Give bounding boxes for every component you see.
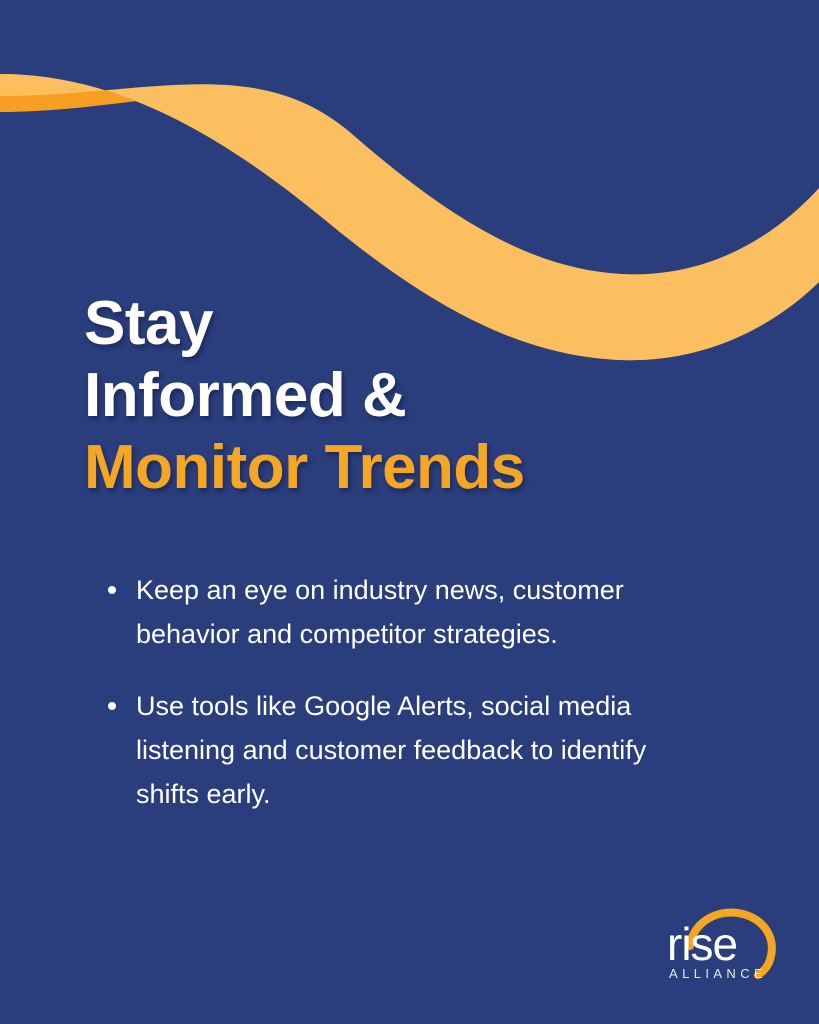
list-item-text: Use tools like Google Alerts, social med… (136, 691, 646, 809)
list-item-text: Keep an eye on industry news, customer b… (136, 575, 624, 649)
heading-line-3-accent: Monitor Trends (84, 432, 744, 504)
heading-line-1: Stay (84, 288, 744, 360)
poster-canvas: Stay Informed & Monitor Trends Keep an e… (0, 0, 819, 1024)
logo-tagline: ALLIANCE (669, 966, 767, 981)
rise-alliance-logo: rise ALLIANCE (663, 898, 793, 988)
bullet-dot-icon (108, 586, 116, 594)
logo-wordmark: rise (667, 918, 737, 970)
list-item: Keep an eye on industry news, customer b… (100, 568, 700, 656)
heading-block: Stay Informed & Monitor Trends (84, 288, 744, 504)
list-item: Use tools like Google Alerts, social med… (100, 684, 700, 816)
bullet-list: Keep an eye on industry news, customer b… (100, 568, 700, 816)
bullet-dot-icon (108, 702, 116, 710)
heading-line-2: Informed & (84, 360, 744, 432)
